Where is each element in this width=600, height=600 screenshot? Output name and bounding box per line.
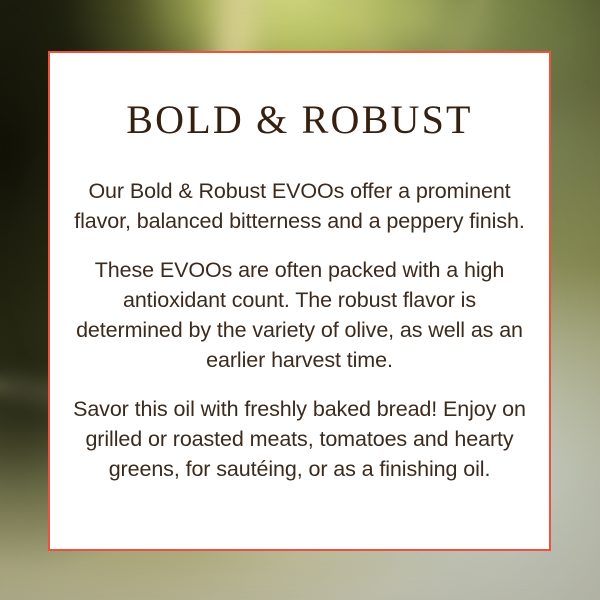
description-paragraph: Our Bold & Robust EVOOs offer a prominen… (68, 176, 531, 236)
info-card: BOLD & ROBUST Our Bold & Robust EVOOs of… (48, 51, 551, 551)
page-title: BOLD & ROBUST (106, 53, 492, 140)
description-paragraph: Savor this oil with freshly baked bread!… (68, 394, 531, 484)
description-paragraph: These EVOOs are often packed with a high… (68, 255, 531, 375)
screenshot-stage: BOLD & ROBUST Our Bold & Robust EVOOs of… (0, 0, 600, 600)
card-body: Our Bold & Robust EVOOs offer a prominen… (50, 140, 549, 484)
